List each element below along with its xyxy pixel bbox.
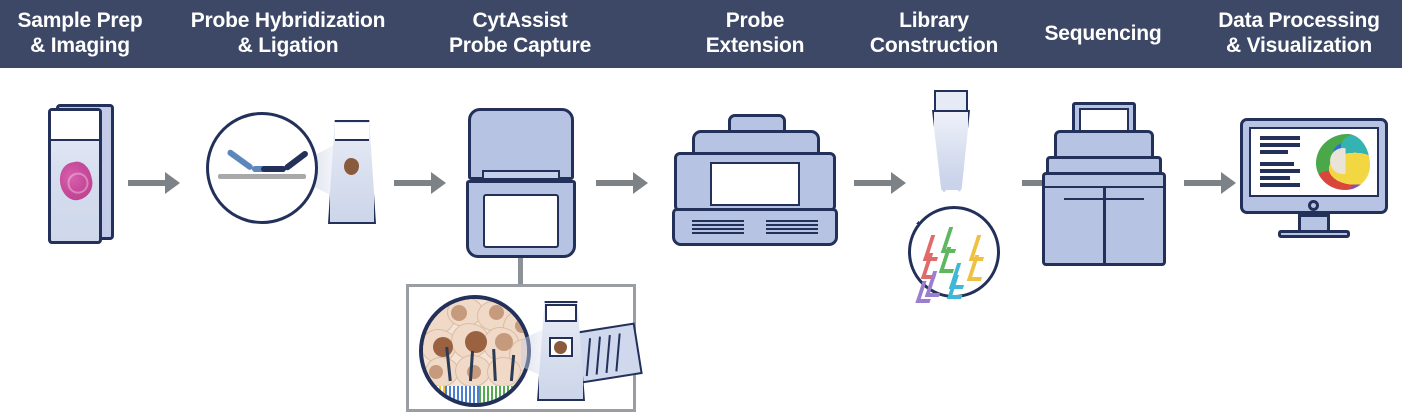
arrow-1 — [128, 172, 180, 194]
arrow-2 — [394, 172, 446, 194]
tissue-barcode-magnifier — [419, 295, 531, 407]
workflow-diagram: Sample Prep & Imaging Probe Hybridizatio… — [0, 0, 1402, 417]
header-step-probe-hyb: Probe Hybridization & Ligation — [168, 0, 408, 68]
library-fragments-magnifier — [908, 206, 1000, 298]
spatial-barcode-strip — [423, 386, 531, 403]
header-line1: Probe Hybridization — [191, 9, 386, 34]
microcentrifuge-tube-icon — [898, 90, 1008, 290]
header-line1: Sequencing — [1044, 22, 1161, 47]
header-line2: & Imaging — [30, 34, 130, 59]
header-line2: Probe Capture — [449, 34, 591, 59]
header-line2: & Visualization — [1226, 34, 1372, 59]
workflow-stage — [0, 68, 1402, 417]
header-step-sequencing: Sequencing — [1022, 0, 1184, 68]
arrow-6 — [1184, 172, 1236, 194]
capture-slide-icon — [573, 322, 642, 383]
header-line1: Data Processing — [1218, 9, 1380, 34]
microscope-slide-icon — [48, 104, 118, 244]
header-line1: Sample Prep — [17, 9, 142, 34]
thermal-cycler-icon — [672, 114, 838, 248]
header-line2: & Ligation — [238, 34, 339, 59]
header-line1: CytAssist — [472, 9, 567, 34]
cytassist-instrument-icon — [466, 108, 576, 258]
workflow-header-bar: Sample Prep & Imaging Probe Hybridizatio… — [0, 0, 1402, 68]
header-line2: Extension — [706, 34, 805, 59]
monitor-analysis-icon — [1240, 118, 1388, 238]
probe-hybridization-icon — [206, 96, 376, 256]
header-step-data-processing: Data Processing & Visualization — [1196, 0, 1402, 68]
spatial-cluster-map — [1316, 134, 1370, 190]
header-step-sample-prep: Sample Prep & Imaging — [0, 0, 160, 68]
callout-connector-line — [518, 258, 523, 286]
cytassist-probe-capture-detail — [406, 284, 636, 412]
header-step-probe-extension: Probe Extension — [672, 0, 838, 68]
header-line2: Construction — [870, 34, 998, 59]
header-line1: Probe — [726, 9, 785, 34]
arrow-3 — [596, 172, 648, 194]
header-step-cytassist: CytAssist Probe Capture — [422, 0, 618, 68]
header-line1: Library — [899, 9, 969, 34]
header-step-library-construction: Library Construction — [852, 0, 1016, 68]
sequencer-icon — [1040, 102, 1168, 266]
